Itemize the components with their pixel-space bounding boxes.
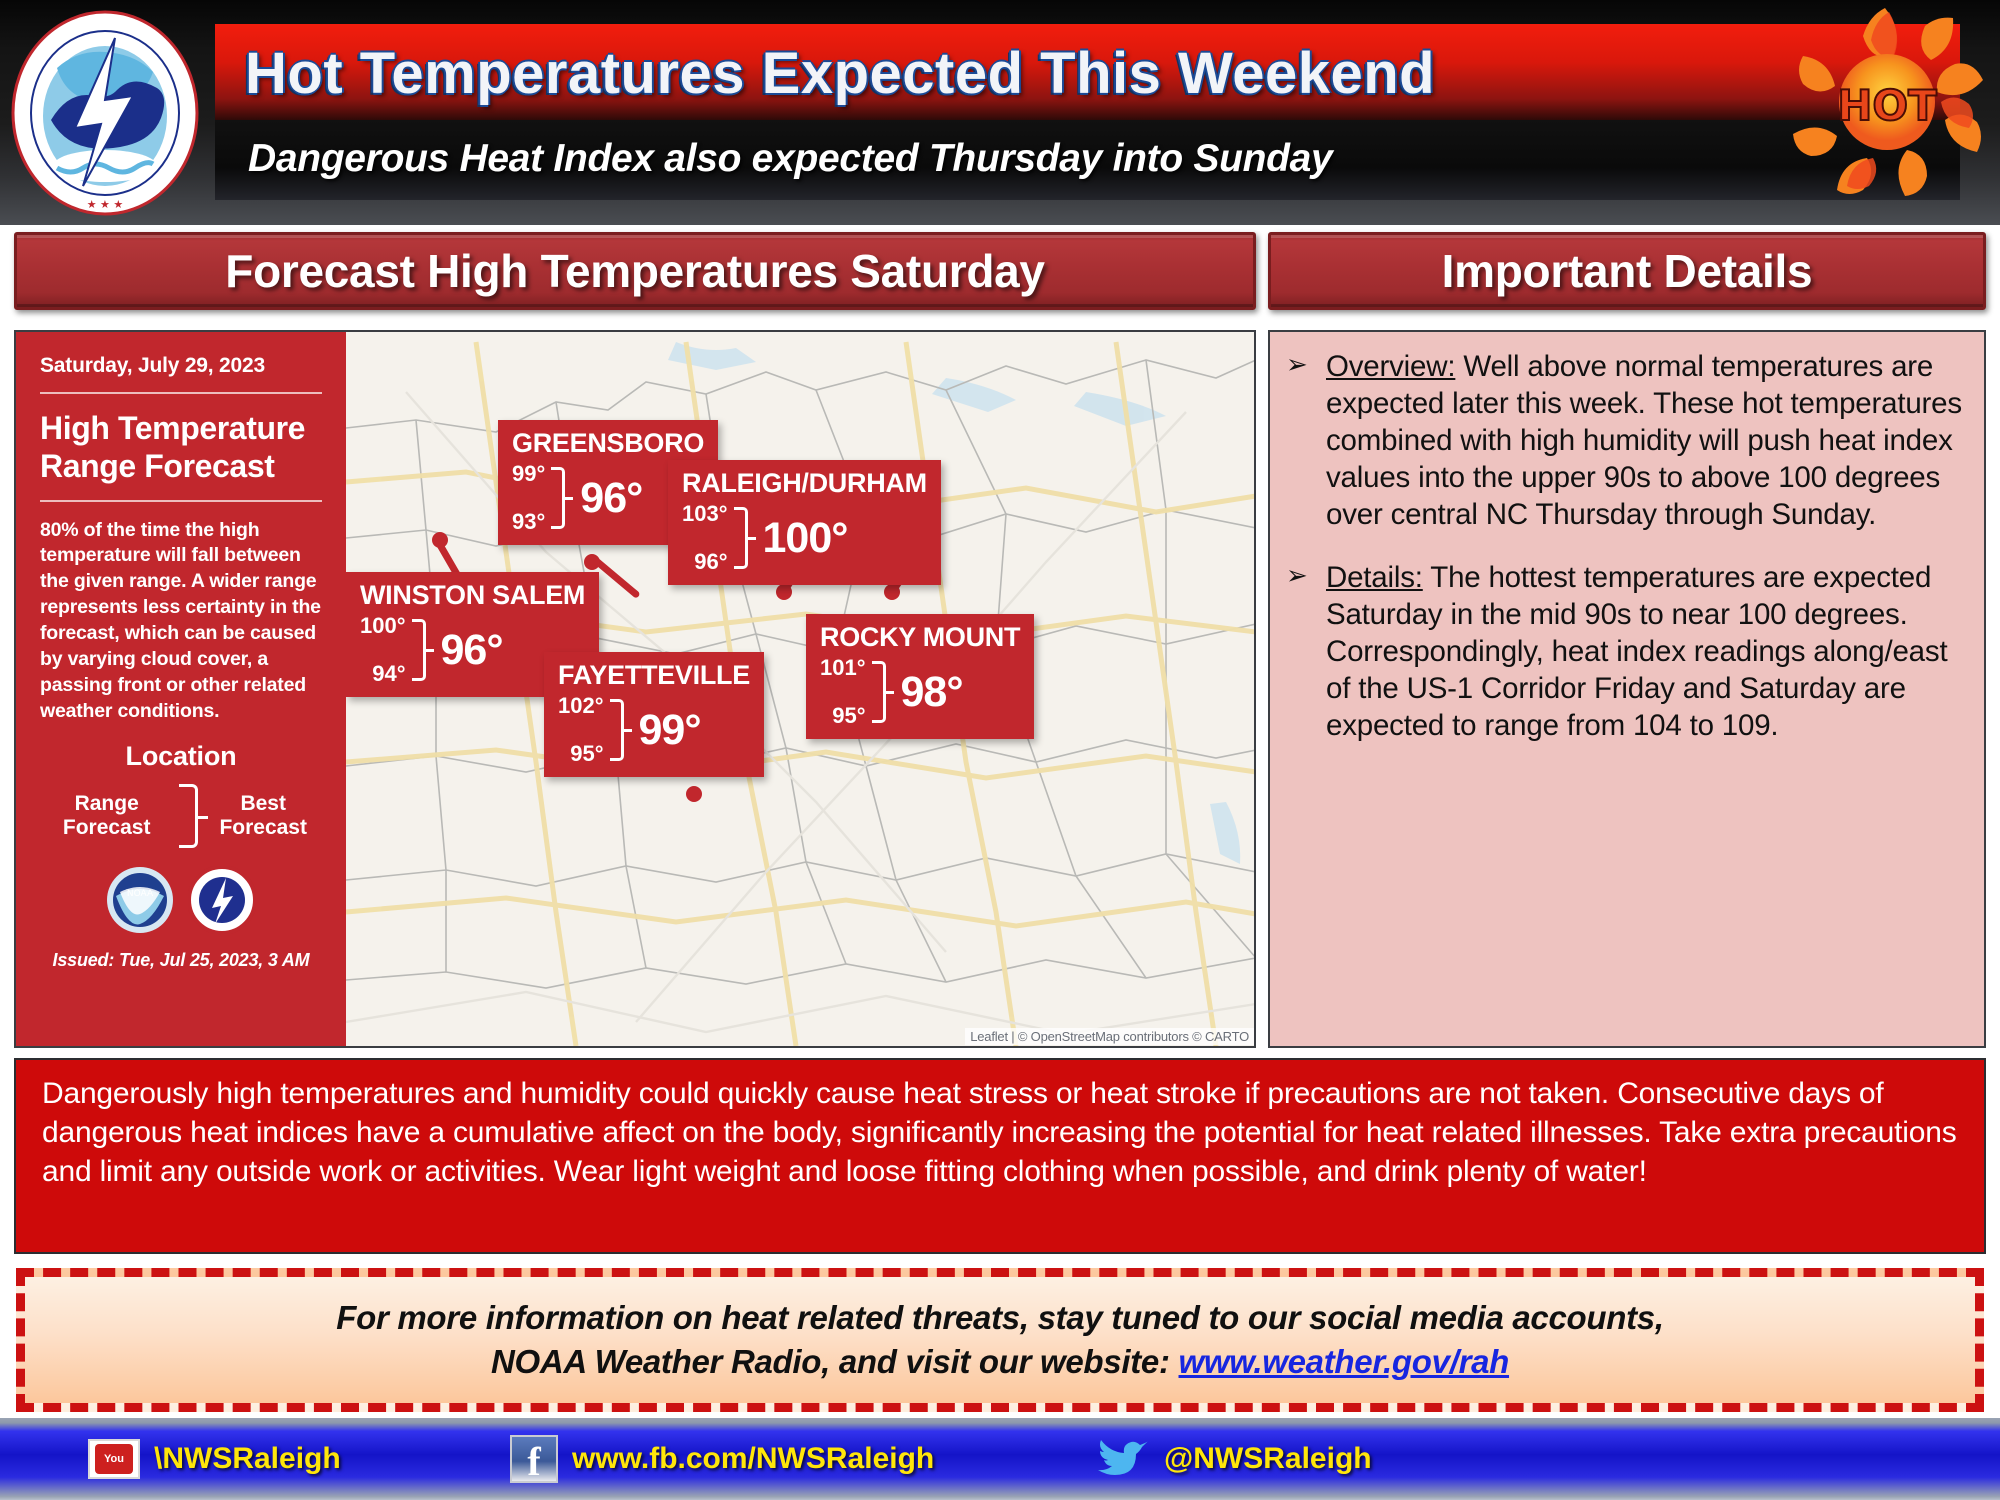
facebook-icon[interactable]: f [510, 1435, 558, 1483]
weather-graphic: Hot Temperatures Expected This Weekend D… [0, 0, 2000, 1500]
callout-best: 100° [763, 514, 848, 563]
important-details-panel: ➢ Overview: Well above normal temperatur… [1268, 330, 1986, 1048]
bullet-details-text: Details: The hottest temperatures are ex… [1326, 559, 1970, 744]
callout-range: 102° 95° [558, 693, 604, 767]
call-to-action-box: For more information on heat related thr… [16, 1268, 1984, 1412]
callout-low: 95° [820, 703, 866, 729]
bullet-overview-label: Overview: [1326, 350, 1455, 383]
callout-high: 100° [360, 613, 406, 639]
callout-brace-icon [412, 619, 426, 681]
legend-brace-icon [179, 784, 198, 848]
callout-brace-icon [610, 699, 624, 761]
callout-range: 99° 93° [512, 461, 545, 535]
callout-range: 101° 95° [820, 655, 866, 729]
callout-low: 95° [558, 741, 604, 767]
callout-low: 93° [512, 509, 545, 535]
callout-high: 101° [820, 655, 866, 681]
svg-text:★ ★ ★: ★ ★ ★ [87, 198, 124, 211]
details-panel-title: Important Details [1442, 244, 1813, 298]
social-media-footer: You \NWSRaleigh f www.fb.com/NWSRaleigh … [0, 1418, 2000, 1500]
youtube-handle: \NWSRaleigh [154, 1442, 341, 1476]
website-link[interactable]: www.weather.gov/rah [1179, 1343, 1510, 1380]
callout-fayetteville[interactable]: FAYETTEVILLE 102° 95° 99° [544, 652, 764, 777]
forecast-date: Saturday, July 29, 2023 [40, 354, 322, 378]
callout-brace-icon [734, 507, 748, 569]
bullet-details: ➢ Details: The hottest temperatures are … [1286, 559, 1970, 744]
arrow-bullet-icon: ➢ [1286, 348, 1312, 533]
callout-range: 100° 94° [360, 613, 406, 687]
pin-greensboro [584, 554, 600, 570]
callout-high: 99° [512, 461, 545, 487]
cta-line-2-prefix: NOAA Weather Radio, and visit our websit… [491, 1343, 1179, 1380]
callout-raleigh-durham[interactable]: RALEIGH/DURHAM 103° 96° 100° [668, 460, 941, 585]
map-legend-sidebar: Saturday, July 29, 2023 High Temperature… [16, 332, 346, 1046]
callout-best: 96° [580, 474, 642, 523]
forecast-panel-header: Forecast High Temperatures Saturday [14, 232, 1256, 310]
leaflet-map[interactable]: GREENSBORO 99° 93° 96° RALEIGH/DURHAM 10… [346, 332, 1256, 1046]
callout-rocky-mount[interactable]: ROCKY MOUNT 101° 95° 98° [806, 614, 1034, 739]
callout-brace-icon [551, 467, 565, 529]
legend-best-label: Best Forecast [204, 792, 322, 839]
callout-body: 102° 95° 99° [558, 693, 750, 767]
twitter-icon[interactable] [1098, 1435, 1150, 1484]
pin-rocky-mount [884, 584, 900, 600]
callout-city-name: GREENSBORO [512, 428, 704, 459]
callout-range: 103° 96° [682, 501, 728, 575]
divider-top [40, 392, 322, 394]
legend-range-label: Range Forecast [40, 792, 173, 839]
youtube-icon[interactable]: You [88, 1439, 140, 1479]
callout-high: 102° [558, 693, 604, 719]
cta-line-2: NOAA Weather Radio, and visit our websit… [491, 1340, 1509, 1384]
divider-bottom [40, 500, 322, 502]
map-heading: High Temperature Range Forecast [40, 410, 322, 486]
callout-best: 96° [441, 626, 503, 675]
page-subtitle: Dangerous Heat Index also expected Thurs… [248, 128, 1648, 190]
nws-seal-icon [188, 866, 256, 934]
forecast-map-panel: Saturday, July 29, 2023 High Temperature… [14, 330, 1256, 1048]
svg-text:NOAA: NOAA [127, 889, 154, 899]
callout-brace-icon [872, 661, 886, 723]
details-panel-header: Important Details [1268, 232, 1986, 310]
callout-high: 103° [682, 501, 728, 527]
map-attribution[interactable]: Leaflet | © OpenStreetMap contributors ©… [965, 1028, 1254, 1045]
callout-best: 99° [639, 706, 701, 755]
heat-warning-block: Dangerously high temperatures and humidi… [14, 1058, 1986, 1254]
heat-warning-text: Dangerously high temperatures and humidi… [42, 1074, 1958, 1191]
callout-body: 101° 95° 98° [820, 655, 1020, 729]
callout-low: 96° [682, 549, 728, 575]
callout-city-name: ROCKY MOUNT [820, 622, 1020, 653]
facebook-url: www.fb.com/NWSRaleigh [572, 1442, 934, 1476]
footer-youtube[interactable]: You \NWSRaleigh [88, 1418, 341, 1500]
agency-seals: NOAA [40, 866, 322, 934]
cta-line-1: For more information on heat related thr… [336, 1296, 1663, 1340]
callout-body: 103° 96° 100° [682, 501, 927, 575]
noaa-seal-icon: NOAA [106, 866, 174, 934]
map-description: 80% of the time the high temperature wil… [40, 518, 322, 725]
hot-sun-icon: HOT [1785, 2, 1990, 202]
header-banner: Hot Temperatures Expected This Weekend D… [0, 0, 2000, 225]
pin-fayetteville [686, 786, 702, 802]
bullet-details-label: Details: [1326, 561, 1423, 594]
callout-city-name: RALEIGH/DURHAM [682, 468, 927, 499]
sun-badge-text: HOT [1837, 81, 1937, 130]
twitter-handle: @NWSRaleigh [1164, 1442, 1372, 1476]
callout-city-name: WINSTON SALEM [360, 580, 585, 611]
arrow-bullet-icon: ➢ [1286, 559, 1312, 744]
callout-low: 94° [360, 661, 406, 687]
national-weather-service-logo: ★ ★ ★ [5, 8, 205, 218]
footer-facebook[interactable]: f www.fb.com/NWSRaleigh [510, 1418, 934, 1500]
map-issued-time: Issued: Tue, Jul 25, 2023, 3 AM [40, 950, 322, 971]
bullet-overview-text: Overview: Well above normal temperatures… [1326, 348, 1970, 533]
legend-location-label: Location [40, 741, 322, 772]
callout-best: 98° [901, 668, 963, 717]
legend-diagram: Range Forecast Best Forecast [40, 784, 322, 848]
bullet-overview: ➢ Overview: Well above normal temperatur… [1286, 348, 1970, 533]
footer-twitter[interactable]: @NWSRaleigh [1098, 1418, 1372, 1500]
forecast-panel-title: Forecast High Temperatures Saturday [225, 244, 1044, 298]
page-title: Hot Temperatures Expected This Weekend [245, 34, 1735, 114]
pin-winston-salem [432, 532, 448, 548]
callout-city-name: FAYETTEVILLE [558, 660, 750, 691]
pin-raleigh [776, 584, 792, 600]
